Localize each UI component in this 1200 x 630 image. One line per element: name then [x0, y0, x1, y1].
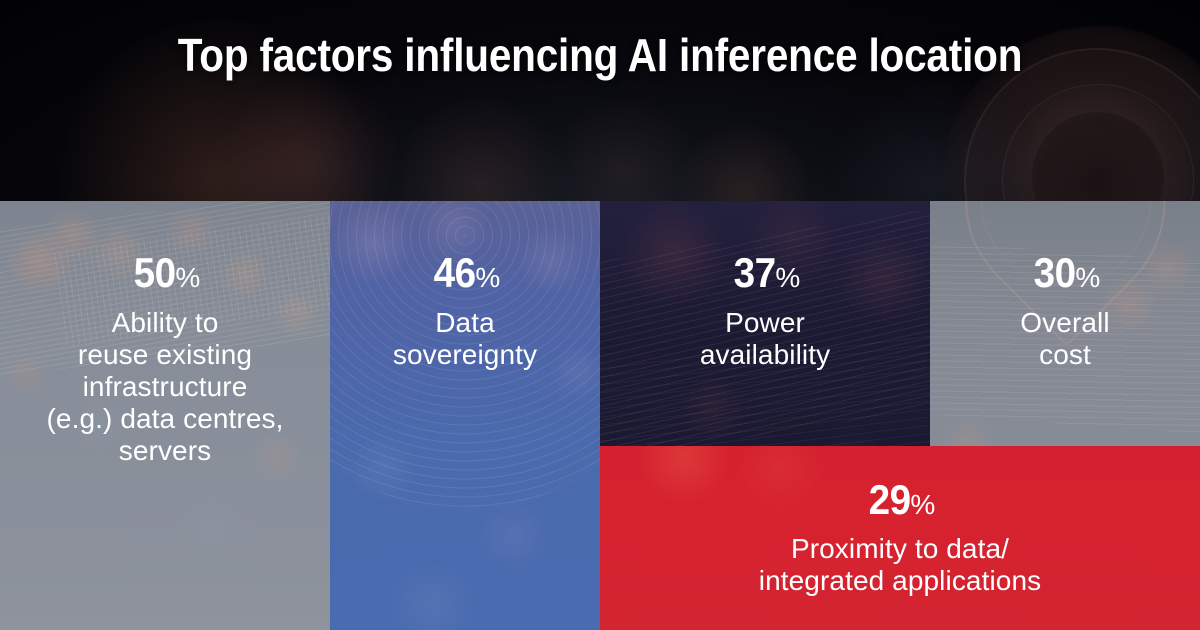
stats-band: 50% Ability to reuse existing infrastruc… — [0, 201, 1200, 630]
stat-value-3: 37% — [730, 252, 801, 294]
stat-number-1: 50 — [133, 252, 175, 294]
percent-symbol-2: % — [475, 262, 500, 293]
stat-number-5: 29 — [868, 479, 910, 521]
stat-panel-infrastructure: 50% Ability to reuse existing infrastruc… — [0, 201, 330, 630]
stat-label-2: Data sovereignty — [340, 307, 590, 371]
page-title: Top factors influencing AI inference loc… — [72, 0, 1128, 201]
stat-number-2: 46 — [433, 252, 475, 294]
stat-label-5: Proximity to data/ integrated applicatio… — [620, 533, 1180, 597]
stat-label-1: Ability to reuse existing infrastructure… — [15, 307, 315, 467]
stat-number-3: 37 — [733, 252, 775, 294]
percent-symbol-3: % — [775, 262, 800, 293]
infographic-canvas: Top factors influencing AI inference loc… — [0, 0, 1200, 630]
stat-panel-proximity: 29% Proximity to data/ integrated applic… — [600, 446, 1200, 630]
stat-panel-data-sovereignty: 46% Data sovereignty — [330, 201, 600, 630]
stat-value-4: 30% — [1030, 252, 1101, 294]
stat-label-3: Power availability — [615, 307, 915, 371]
percent-symbol-5: % — [910, 489, 935, 520]
stat-value-1: 50% — [130, 252, 201, 294]
stat-value-5: 29% — [865, 479, 936, 521]
percent-symbol-1: % — [175, 262, 200, 293]
percent-symbol-4: % — [1075, 262, 1100, 293]
stat-number-4: 30 — [1033, 252, 1075, 294]
stat-label-4: Overall cost — [940, 307, 1190, 371]
stat-value-2: 46% — [430, 252, 501, 294]
